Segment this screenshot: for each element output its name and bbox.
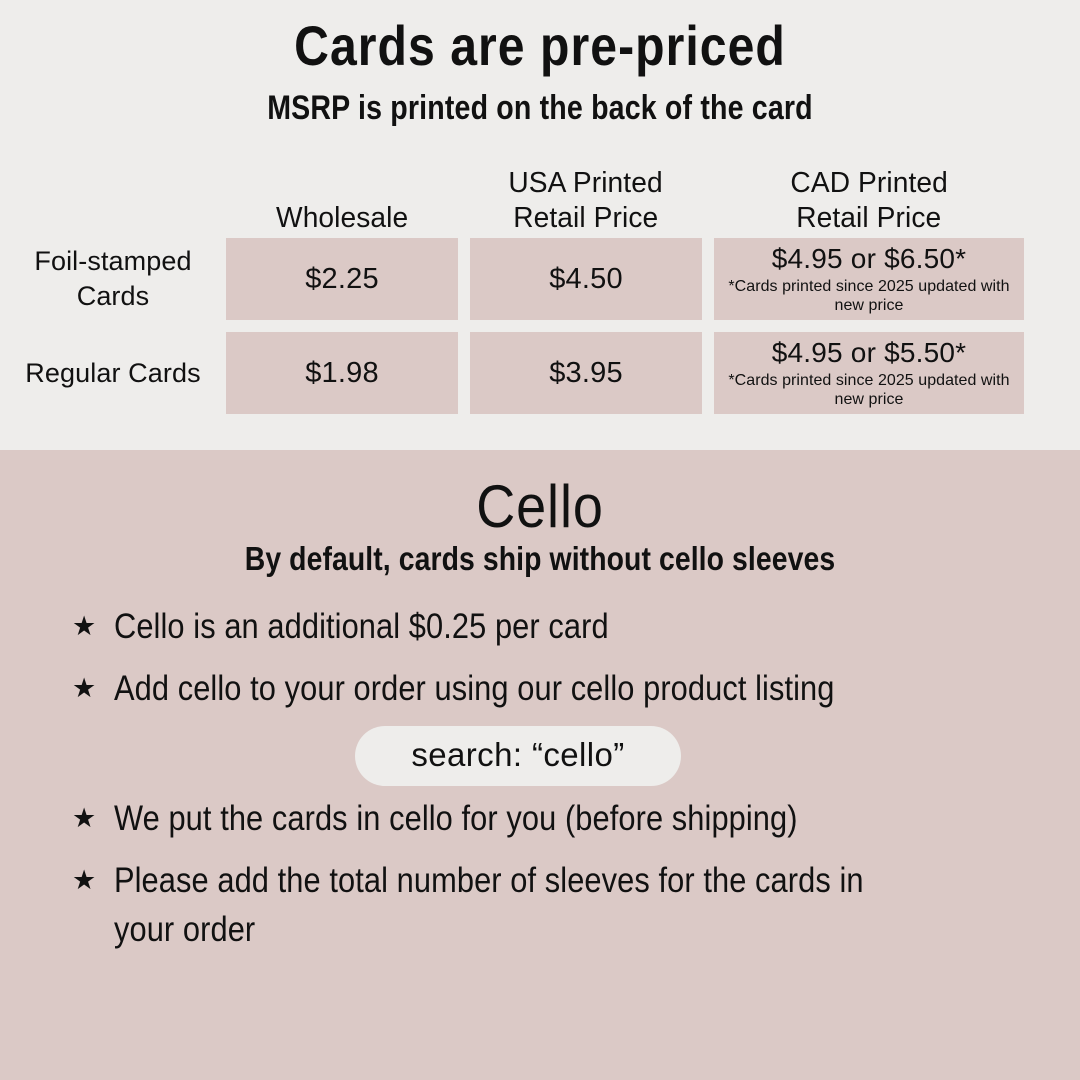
star-icon: ★ [72, 794, 96, 843]
column-header-usa-retail-line2: Retail Price [513, 201, 658, 236]
cell-foil-wholesale-value: $2.25 [305, 262, 379, 296]
star-icon: ★ [72, 602, 96, 651]
row-label-regular-line1: Regular Cards [25, 356, 200, 391]
row-label-foil-stamped-line1: Foil-stamped [34, 244, 191, 279]
cell-regular-cad-retail: $4.95 or $5.50* *Cards printed since 202… [714, 332, 1024, 414]
row-label-regular: Regular Cards [0, 332, 226, 414]
cell-regular-cad-retail-value: $4.95 or $5.50* [772, 337, 967, 369]
cell-regular-usa-retail: $3.95 [470, 332, 702, 414]
column-header-usa-retail: USA Printed Retail Price [470, 166, 702, 238]
list-item: ★ Cello is an additional $0.25 per card [72, 602, 1022, 651]
star-icon: ★ [72, 664, 96, 713]
table-row: Foil-stamped Cards $2.25 $4.50 $4.95 or … [0, 238, 1080, 320]
star-icon: ★ [72, 856, 96, 905]
page-subtitle: MSRP is printed on the back of the card [86, 86, 993, 130]
cell-regular-wholesale-value: $1.98 [305, 356, 379, 390]
list-item-label: We put the cards in cello for you (befor… [114, 794, 913, 843]
search-pill-wrapper: search: “cello” [72, 726, 1022, 786]
column-header-cad-retail-line1: CAD Printed [790, 166, 947, 201]
infographic-page: Cards are pre-priced MSRP is printed on … [0, 0, 1080, 1080]
cell-foil-usa-retail: $4.50 [470, 238, 702, 320]
column-header-cad-retail-line2: Retail Price [796, 201, 941, 236]
row-label-foil-stamped: Foil-stamped Cards [0, 238, 226, 320]
list-item: ★ We put the cards in cello for you (bef… [72, 794, 1022, 843]
cell-foil-cad-retail: $4.95 or $6.50* *Cards printed since 202… [714, 238, 1024, 320]
pricing-section: Cards are pre-priced MSRP is printed on … [0, 0, 1080, 450]
list-item-label: Please add the total number of sleeves f… [114, 856, 913, 954]
cello-subtitle: By default, cards ship without cello sle… [76, 538, 1005, 580]
column-header-wholesale: Wholesale [226, 201, 458, 238]
cell-foil-cad-retail-value: $4.95 or $6.50* [772, 243, 967, 275]
list-item-label: Add cello to your order using our cello … [114, 664, 913, 713]
cell-regular-cad-retail-note: *Cards printed since 2025 updated with n… [723, 371, 1015, 409]
column-header-cad-retail: CAD Printed Retail Price [714, 166, 1024, 238]
cello-bullet-list: ★ Cello is an additional $0.25 per card … [72, 602, 1022, 967]
cell-regular-usa-retail-value: $3.95 [549, 356, 623, 390]
cello-section: Cello By default, cards ship without cel… [0, 450, 1080, 1080]
list-item-label: Cello is an additional $0.25 per card [114, 602, 913, 651]
table-header-row: Wholesale USA Printed Retail Price CAD P… [0, 160, 1080, 238]
search-hint-pill[interactable]: search: “cello” [355, 726, 680, 786]
cell-regular-wholesale: $1.98 [226, 332, 458, 414]
page-title: Cards are pre-priced [76, 14, 1005, 78]
cell-foil-cad-retail-note: *Cards printed since 2025 updated with n… [723, 277, 1015, 315]
column-header-usa-retail-line1: USA Printed [509, 166, 663, 201]
cell-foil-wholesale: $2.25 [226, 238, 458, 320]
table-row: Regular Cards $1.98 $3.95 $4.95 or $5.50… [0, 332, 1080, 414]
column-header-wholesale-label: Wholesale [276, 201, 408, 236]
list-item: ★ Please add the total number of sleeves… [72, 856, 1022, 954]
row-label-foil-stamped-line2: Cards [34, 279, 191, 314]
pricing-table: Wholesale USA Printed Retail Price CAD P… [0, 160, 1080, 426]
cello-title: Cello [54, 473, 1026, 541]
list-item: ★ Add cello to your order using our cell… [72, 664, 1022, 713]
cell-foil-usa-retail-value: $4.50 [549, 262, 623, 296]
